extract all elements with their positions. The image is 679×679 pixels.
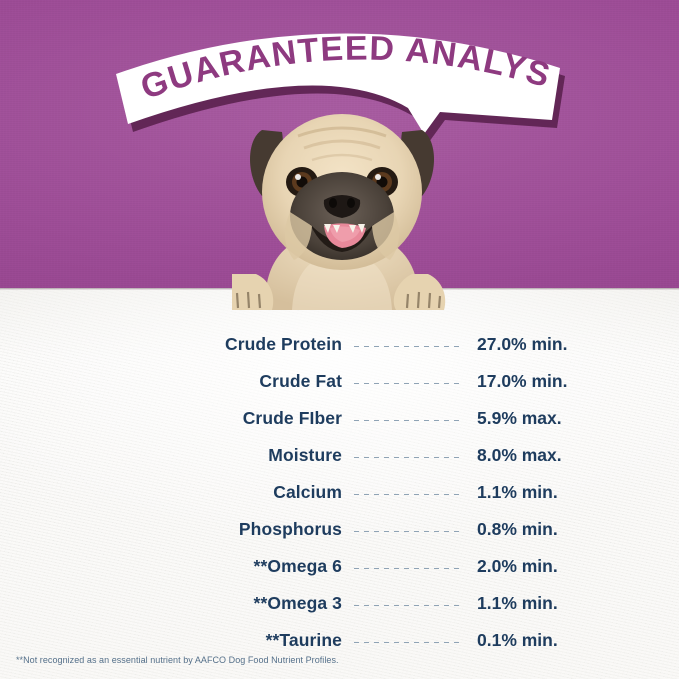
footnote-text: **Not recognized as an essential nutrien… [16, 655, 339, 665]
leader-dots [354, 420, 464, 421]
nutrient-value: 1.1% min. [468, 482, 673, 503]
nutrient-label: Crude Protein [0, 334, 350, 355]
leader-dots [354, 605, 464, 606]
nutrient-label: Crude FIber [0, 408, 350, 429]
table-row: Crude Protein 27.0% min. [0, 326, 679, 363]
pug-dog-photo [232, 104, 452, 310]
nutrient-value: 2.0% min. [468, 556, 673, 577]
table-row: **Omega 3 1.1% min. [0, 585, 679, 622]
nutrient-value: 17.0% min. [468, 371, 673, 392]
leader-dots [354, 383, 464, 384]
leader-dots [354, 568, 464, 569]
nutrient-label: Moisture [0, 445, 350, 466]
dog-paw-left [232, 274, 273, 310]
nutrient-label: Calcium [0, 482, 350, 503]
table-row: Calcium 1.1% min. [0, 474, 679, 511]
nutrient-label: **Omega 3 [0, 593, 350, 614]
table-row: Crude Fat 17.0% min. [0, 363, 679, 400]
table-row: **Omega 6 2.0% min. [0, 548, 679, 585]
leader-dots [354, 531, 464, 532]
leader-dots [354, 457, 464, 458]
leader-dots [354, 494, 464, 495]
leader-dots [354, 642, 464, 643]
nutrient-value: 0.1% min. [468, 630, 673, 651]
guaranteed-analysis-table: Crude Protein 27.0% min. Crude Fat 17.0%… [0, 326, 679, 659]
leader-dots [354, 346, 464, 347]
table-row: Moisture 8.0% max. [0, 437, 679, 474]
guaranteed-analysis-infographic: GUARANTEED ANALYSIS [0, 0, 679, 679]
nutrient-label: Phosphorus [0, 519, 350, 540]
table-row: Crude FIber 5.9% max. [0, 400, 679, 437]
nutrient-value: 1.1% min. [468, 593, 673, 614]
nutrient-label: **Taurine [0, 630, 350, 651]
nutrient-label: Crude Fat [0, 371, 350, 392]
table-row: Phosphorus 0.8% min. [0, 511, 679, 548]
nutrient-value: 0.8% min. [468, 519, 673, 540]
nutrient-value: 5.9% max. [468, 408, 673, 429]
nutrient-value: 27.0% min. [468, 334, 673, 355]
nutrient-label: **Omega 6 [0, 556, 350, 577]
nutrient-value: 8.0% max. [468, 445, 673, 466]
table-row: **Taurine 0.1% min. [0, 622, 679, 659]
